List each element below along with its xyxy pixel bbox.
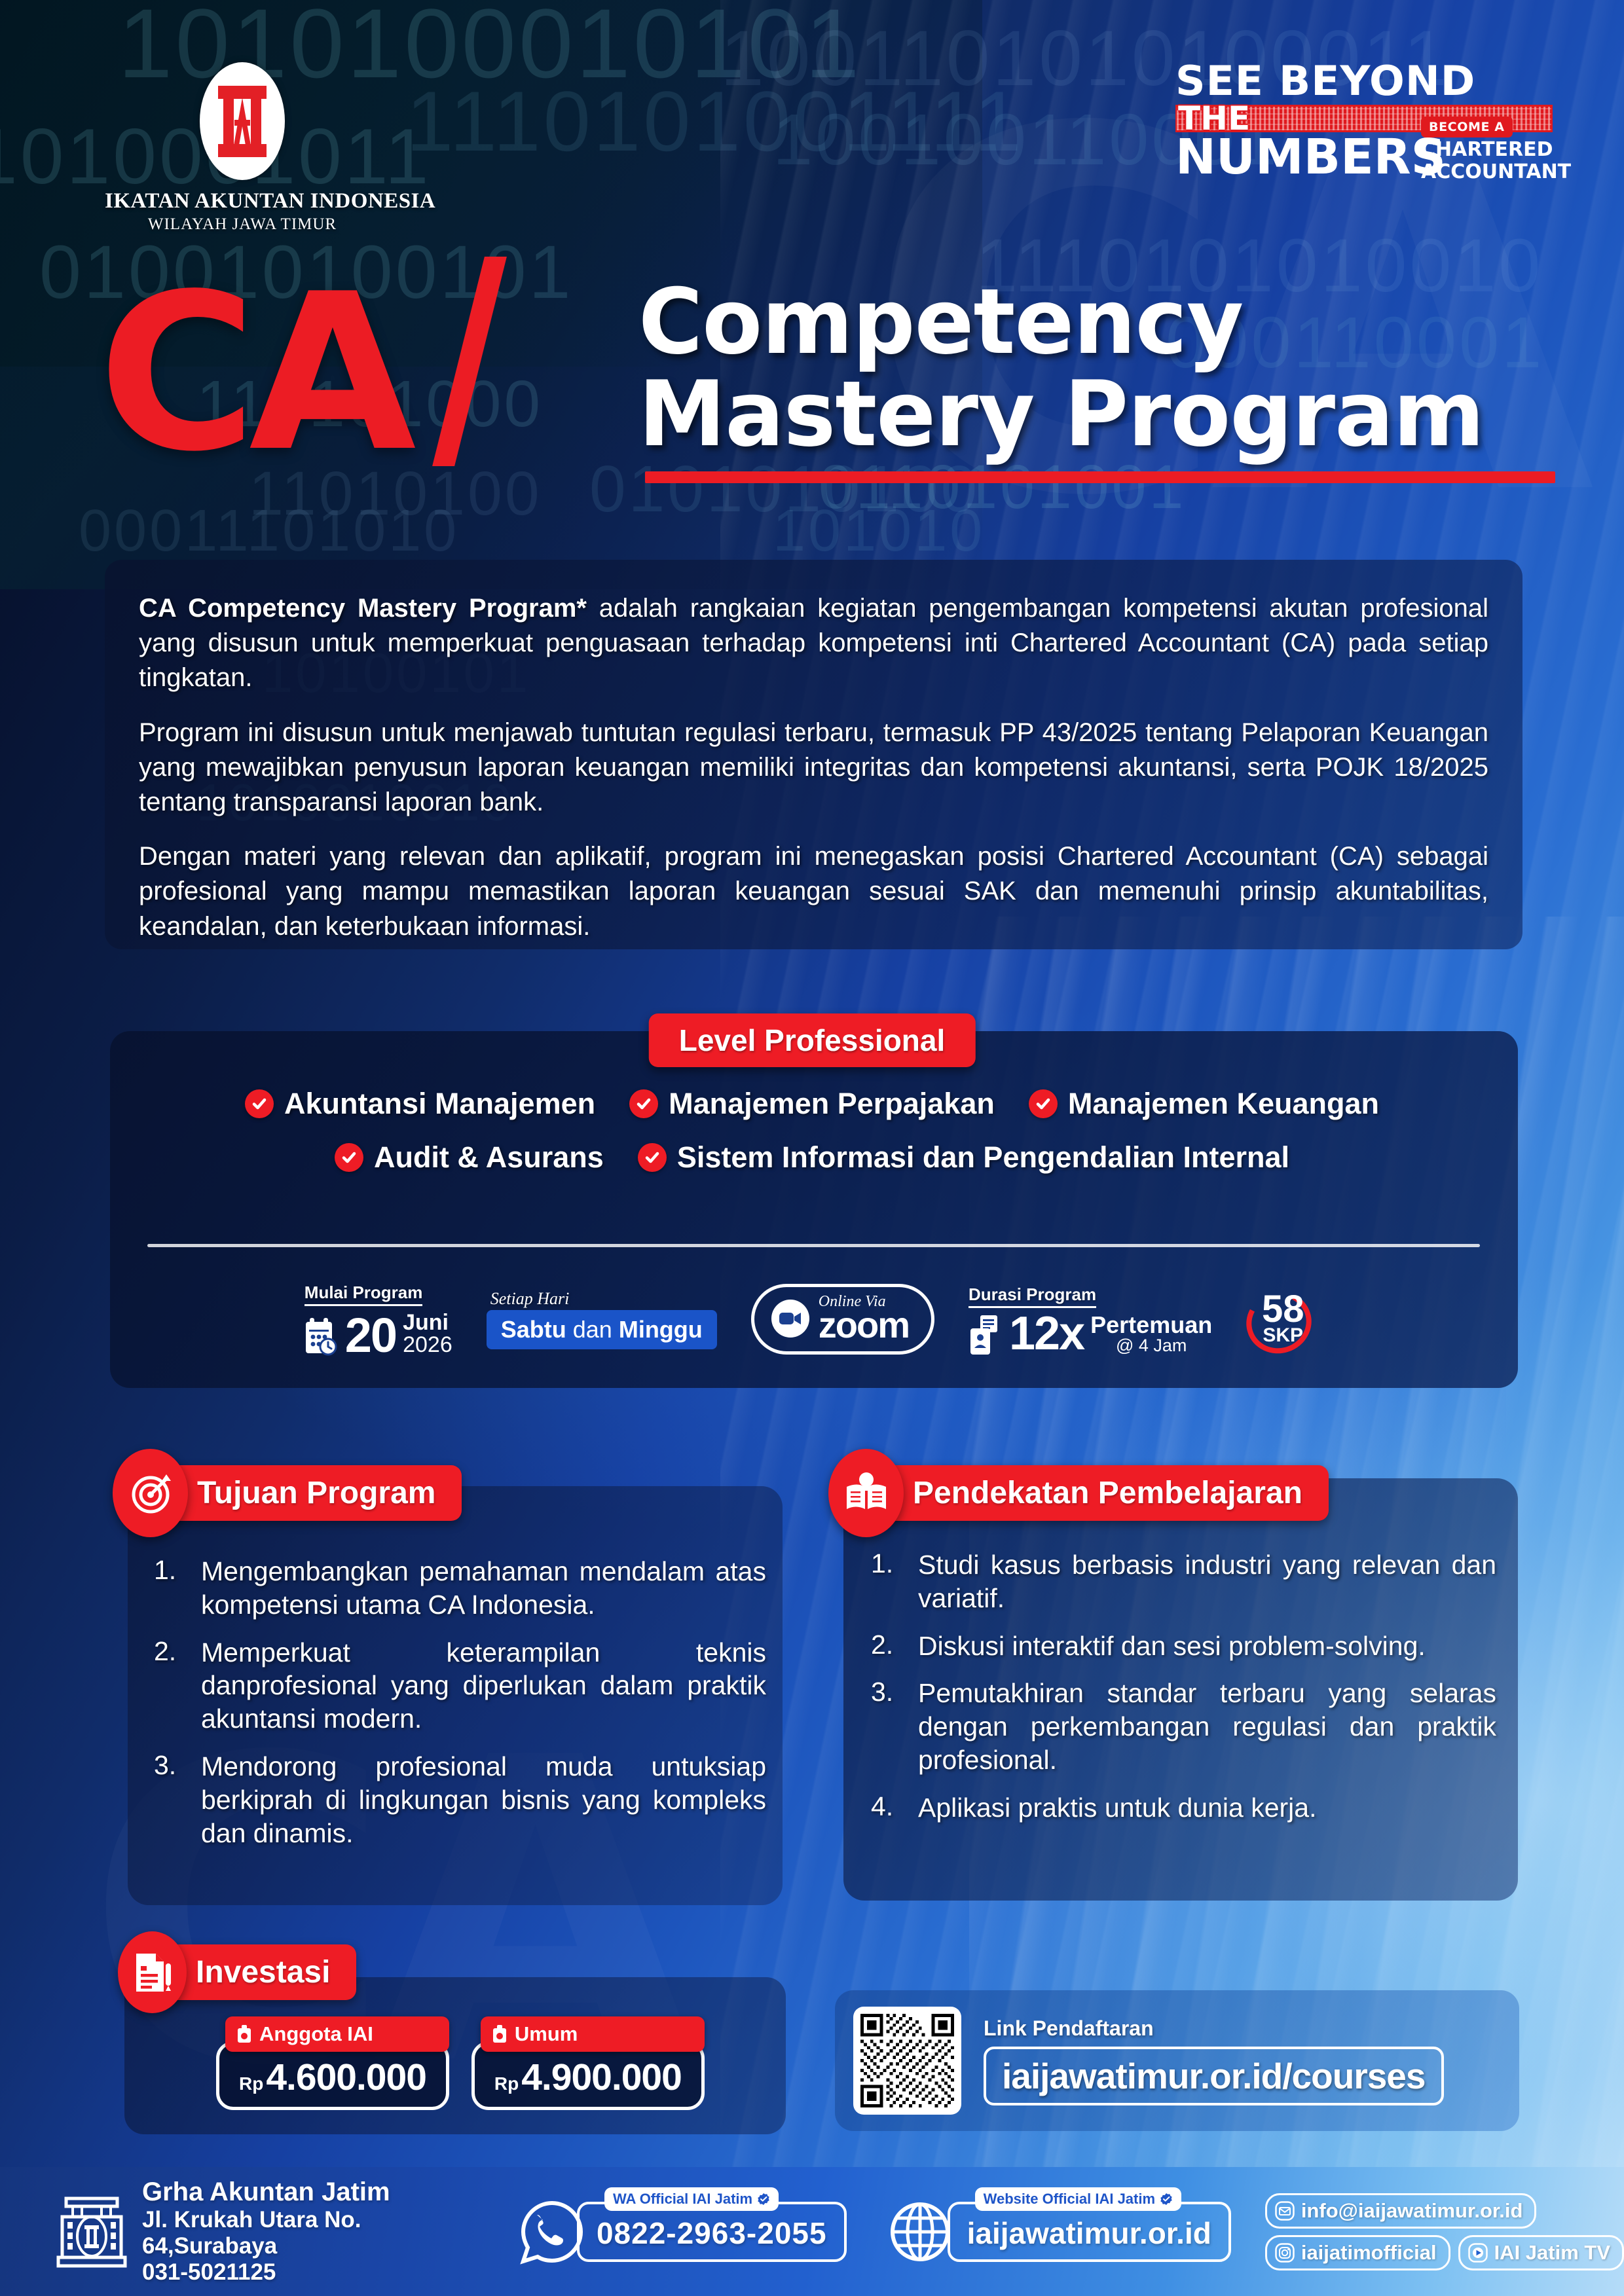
envelope-icon	[1275, 2201, 1295, 2221]
zoom-text: Online Via zoom	[819, 1294, 909, 1343]
competency-item[interactable]: Akuntansi Manajemen	[245, 1087, 595, 1121]
whatsapp-block[interactable]: WA Official IAI Jatim 0822-2963-2055	[519, 2199, 847, 2265]
check-icon	[245, 1089, 274, 1118]
tagline-line-1: SEE BEYOND	[1175, 62, 1563, 101]
competency-item[interactable]: Manajemen Perpajakan	[629, 1087, 995, 1121]
list-number: 3.	[871, 1677, 905, 1776]
chartered-label: CHARTERED	[1421, 140, 1555, 160]
ticket-icon	[236, 2024, 253, 2044]
start-date-block: Mulai Program	[304, 1283, 452, 1356]
price-list: Anggota IAI Rp 4.600.000 Umum Rp	[216, 2016, 705, 2110]
start-date-label: Mulai Program	[304, 1283, 423, 1306]
title-block: CA Competency Mastery Program	[0, 262, 1624, 511]
level-divider	[147, 1244, 1480, 1247]
book-lightbulb-icon	[828, 1449, 904, 1537]
list-item: 3. Pemutakhiran standar terbaru yang sel…	[871, 1677, 1496, 1776]
website-body: Website Official IAI Jatim iaijawatimur.…	[948, 2202, 1231, 2262]
price-amount: 4.900.000	[521, 2059, 682, 2096]
program-info-strip: Mulai Program	[0, 1273, 1624, 1365]
list-number: 3.	[154, 1750, 188, 1850]
start-date-value: 20 Juni 2026	[304, 1311, 452, 1356]
list-number: 1.	[154, 1555, 188, 1622]
duration-label: Durasi Program	[969, 1285, 1096, 1308]
verified-badge-icon	[1160, 2193, 1173, 2206]
social-row-1: info@iaijawatimur.or.id	[1265, 2193, 1624, 2229]
org-name: IKATAN AKUNTAN INDONESIA	[105, 189, 380, 213]
description-paragraph-3: Dengan materi yang relevan dan aplikatif…	[139, 839, 1488, 944]
youtube-text: IAI Jatim TV	[1494, 2241, 1610, 2265]
price-label-pill: Anggota IAI	[225, 2016, 449, 2052]
check-icon	[1029, 1089, 1058, 1118]
day-saturday: Sabtu	[501, 1316, 566, 1343]
competency-label: Manajemen Perpajakan	[669, 1087, 995, 1121]
price-currency: Rp	[494, 2073, 519, 2094]
description-paragraph-1: CA Competency Mastery Program* adalah ra…	[139, 591, 1488, 696]
zoom-platform-badge: Online Via zoom	[751, 1284, 934, 1355]
price-label-text: Umum	[515, 2022, 578, 2046]
tujuan-program-list: 1. Mengembangkan pemahaman mendalam atas…	[154, 1555, 766, 1865]
venue-block: Grha Akuntan Jatim Jl. Krukah Utara No. …	[56, 2178, 444, 2286]
footer-bar: Grha Akuntan Jatim Jl. Krukah Utara No. …	[0, 2167, 1624, 2296]
ticket-icon	[491, 2024, 508, 2044]
check-icon	[629, 1089, 658, 1118]
day-sunday: Minggu	[619, 1316, 703, 1343]
competency-row-2: Audit & Asurans Sistem Informasi dan Pen…	[0, 1140, 1624, 1175]
youtube-link[interactable]: IAI Jatim TV	[1458, 2235, 1624, 2270]
tagline-the: THE	[1178, 102, 1250, 135]
skp-label: SKP	[1263, 1326, 1303, 1345]
competency-label: Sistem Informasi dan Pengendalian Intern…	[677, 1140, 1289, 1175]
competency-list: Akuntansi Manajemen Manajemen Perpajakan…	[0, 1087, 1624, 1194]
skp-badge: 58 SKP	[1246, 1283, 1319, 1356]
list-number: 2.	[871, 1630, 905, 1663]
mobile-meeting-icon	[969, 1314, 1003, 1355]
venue-phone: 031-5021125	[142, 2259, 444, 2286]
whatsapp-icon	[519, 2199, 585, 2265]
target-icon	[113, 1449, 188, 1537]
list-number: 1.	[871, 1548, 905, 1615]
title-line-2: Mastery Program	[638, 369, 1484, 461]
investasi-header: Investasi	[118, 1931, 356, 2013]
become-chartered-accountant: BECOME A CHARTERED ACCOUNTANT	[1421, 117, 1555, 182]
every-day-label: Setiap Hari	[490, 1289, 717, 1309]
instagram-link[interactable]: iaijatimofficial	[1265, 2235, 1450, 2270]
registration-text: Link Pendaftaran iaijawatimur.or.id/cour…	[984, 2016, 1444, 2105]
level-professional-badge: Level Professional	[649, 1013, 976, 1067]
competency-item[interactable]: Audit & Asurans	[335, 1140, 604, 1175]
start-day: 20	[345, 1316, 396, 1356]
start-month: Juni	[403, 1311, 452, 1334]
schedule-days-block: Setiap Hari Sabtu dan Minggu	[487, 1289, 717, 1349]
tujuan-program-header: Tujuan Program	[113, 1449, 462, 1537]
whatsapp-official-chip: WA Official IAI Jatim	[604, 2187, 779, 2211]
instagram-text: iaijatimofficial	[1301, 2241, 1437, 2265]
list-number: 2.	[154, 1636, 188, 1736]
social-row-2: iaijatimofficial IAI Jatim TV	[1265, 2235, 1624, 2270]
zoom-wordmark: zoom	[819, 1307, 909, 1343]
invoice-icon	[118, 1931, 187, 2013]
competency-item[interactable]: Sistem Informasi dan Pengendalian Intern…	[638, 1140, 1289, 1175]
page-title: Competency Mastery Program	[638, 276, 1484, 461]
title-underline	[645, 471, 1555, 483]
start-year: 2026	[403, 1334, 452, 1356]
see-beyond-the-numbers-lockup: SEE BEYOND THE NUMBERS BECOME A CHARTERE…	[1175, 62, 1555, 179]
description-panel: CA Competency Mastery Program* adalah ra…	[105, 560, 1522, 949]
qr-code[interactable]	[853, 2007, 961, 2115]
whatsapp-body: WA Official IAI Jatim 0822-2963-2055	[577, 2202, 847, 2262]
pendekatan-pembelajaran-title: Pendekatan Pembelajaran	[872, 1465, 1329, 1521]
list-item: 1. Mengembangkan pemahaman mendalam atas…	[154, 1555, 766, 1622]
tujuan-program-title: Tujuan Program	[157, 1465, 462, 1521]
accountant-label: ACCOUNTANT	[1421, 162, 1555, 182]
building-icon	[56, 2191, 128, 2272]
price-amount: 4.600.000	[266, 2059, 426, 2096]
globe-icon	[887, 2199, 953, 2265]
competency-label: Akuntansi Manajemen	[284, 1087, 595, 1121]
check-icon	[638, 1143, 667, 1172]
schedule-days-pill: Sabtu dan Minggu	[487, 1310, 717, 1349]
price-label-text: Anggota IAI	[259, 2022, 373, 2046]
instagram-icon	[1275, 2243, 1295, 2263]
calendar-icon	[304, 1318, 339, 1356]
price-label-pill: Umum	[481, 2016, 705, 2052]
website-block[interactable]: Website Official IAI Jatim iaijawatimur.…	[887, 2199, 1231, 2265]
poster-root: 1010100010101 1110101001111 100110101010…	[0, 0, 1624, 2296]
list-text: Memperkuat keterampilan teknis danprofes…	[201, 1636, 766, 1736]
duration-unit: Pertemuan	[1090, 1313, 1212, 1337]
iai-logo: IKATAN AKUNTAN INDONESIA WILAYAH JAWA TI…	[105, 62, 380, 234]
list-text: Mengembangkan pemahaman mendalam atas ko…	[201, 1555, 766, 1622]
org-region: WILAYAH JAWA TIMUR	[105, 215, 380, 234]
list-text: Pemutakhiran standar terbaru yang selara…	[918, 1677, 1496, 1776]
social-links: info@iaijawatimur.or.id iaijatimofficial	[1265, 2193, 1624, 2270]
list-text: Mendorong profesional muda untuksiap ber…	[201, 1750, 766, 1850]
competency-label: Audit & Asurans	[374, 1140, 604, 1175]
email-text: info@iaijawatimur.or.id	[1301, 2199, 1523, 2223]
poster-header: IKATAN AKUNTAN INDONESIA WILAYAH JAWA TI…	[0, 0, 1624, 249]
day-conjunction: dan	[566, 1316, 619, 1343]
list-item: 2. Memperkuat keterampilan teknis danpro…	[154, 1636, 766, 1736]
duration-value: 12x Pertemuan @ 4 Jam	[969, 1313, 1212, 1355]
price-card-member: Anggota IAI Rp 4.600.000	[216, 2016, 449, 2110]
venue-text: Grha Akuntan Jatim Jl. Krukah Utara No. …	[142, 2178, 444, 2286]
list-item: 1. Studi kasus berbasis industri yang re…	[871, 1548, 1496, 1615]
website-official-chip: Website Official IAI Jatim	[975, 2187, 1181, 2211]
registration-url[interactable]: iaijawatimur.or.id/courses	[984, 2047, 1444, 2105]
check-icon	[335, 1143, 363, 1172]
email-link[interactable]: info@iaijawatimur.or.id	[1265, 2193, 1537, 2229]
duration-hours: @ 4 Jam	[1090, 1337, 1212, 1355]
website-chip-label: Website Official IAI Jatim	[984, 2191, 1155, 2208]
verified-badge-icon	[757, 2193, 770, 2206]
description-bold-lead: CA Competency Mastery Program*	[139, 594, 587, 623]
list-text: Studi kasus berbasis industri yang relev…	[918, 1548, 1496, 1615]
whatsapp-chip-label: WA Official IAI Jatim	[613, 2191, 752, 2208]
venue-name: Grha Akuntan Jatim	[142, 2178, 444, 2207]
become-a-label: BECOME A	[1421, 117, 1513, 137]
price-currency: Rp	[239, 2073, 263, 2094]
title-line-1: Competency	[638, 276, 1484, 369]
list-item: 2. Diskusi interaktif dan sesi problem-s…	[871, 1630, 1496, 1663]
skp-number: 58	[1262, 1293, 1304, 1326]
pendekatan-pembelajaran-list: 1. Studi kasus berbasis industri yang re…	[871, 1548, 1496, 1839]
duration-block: Durasi Program 12x	[969, 1285, 1212, 1355]
list-item: 4. Aplikasi praktis untuk dunia kerja.	[871, 1791, 1496, 1825]
ca-slash-divider	[432, 257, 507, 466]
list-text: Aplikasi praktis untuk dunia kerja.	[918, 1791, 1316, 1825]
iai-emblem-icon	[200, 62, 285, 180]
registration-label: Link Pendaftaran	[984, 2016, 1444, 2041]
list-text: Diskusi interaktif dan sesi problem-solv…	[918, 1630, 1426, 1663]
venue-address: Jl. Krukah Utara No. 64,Surabaya	[142, 2207, 444, 2260]
competency-label: Manajemen Keuangan	[1068, 1087, 1379, 1121]
description-paragraph-2: Program ini disusun untuk menjawab tuntu…	[139, 716, 1488, 820]
price-card-public: Umum Rp 4.900.000	[471, 2016, 705, 2110]
youtube-icon	[1468, 2243, 1488, 2263]
competency-row-1: Akuntansi Manajemen Manajemen Perpajakan…	[0, 1087, 1624, 1121]
duration-count: 12x	[1009, 1314, 1084, 1354]
video-camera-icon	[771, 1300, 809, 1338]
list-item: 3. Mendorong profesional muda untuksiap …	[154, 1750, 766, 1850]
pendekatan-pembelajaran-header: Pendekatan Pembelajaran	[828, 1449, 1329, 1537]
list-number: 4.	[871, 1791, 905, 1825]
competency-item[interactable]: Manajemen Keuangan	[1029, 1087, 1379, 1121]
ca-logo-text: CA	[98, 265, 409, 481]
registration-card[interactable]: Link Pendaftaran iaijawatimur.or.id/cour…	[835, 1990, 1519, 2131]
